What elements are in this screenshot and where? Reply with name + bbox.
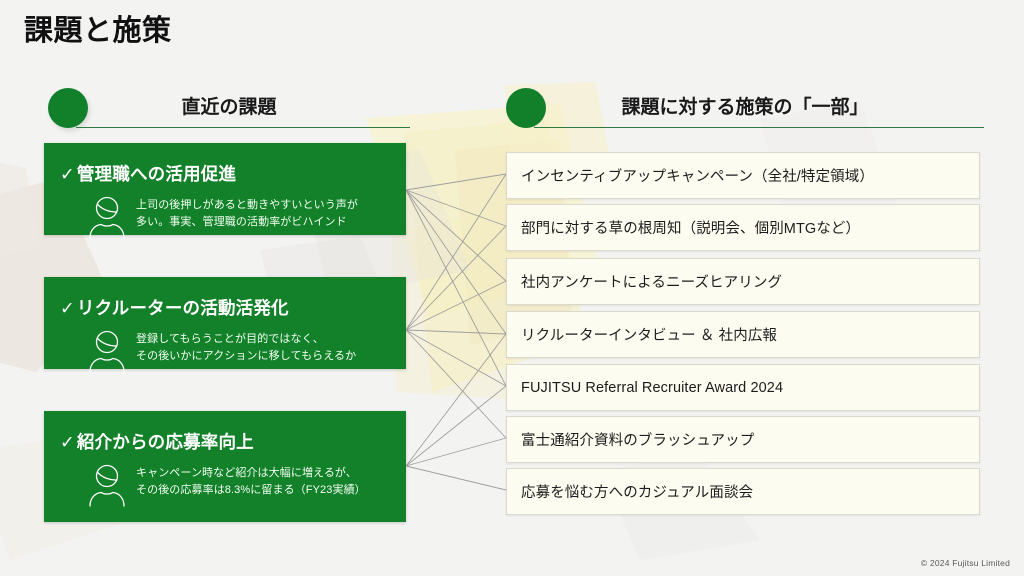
measure-label: 富士通紹介資料のブラッシュアップ <box>507 429 754 450</box>
page-title: 課題と施策 <box>24 14 172 49</box>
issue-body-line: 多い。事実、管理職の活動率がビハインド <box>136 214 394 231</box>
person-icon <box>84 329 130 373</box>
measure-label: 部門に対する草の根周知（説明会、個別MTGなど） <box>507 217 860 238</box>
measure-item[interactable]: 富士通紹介資料のブラッシュアップ <box>506 416 980 463</box>
left-column-rule <box>76 127 410 129</box>
measure-label: 応募を悩む方へのカジュアル面談会 <box>507 481 753 502</box>
measure-item[interactable]: リクルーターインタビュー ＆ 社内広報 <box>506 311 980 358</box>
issue-card[interactable]: ✓紹介からの応募率向上 キャンペーン時など紹介は大幅に増えるが、 その後の応募率… <box>44 411 406 522</box>
measure-item[interactable]: 部門に対する草の根周知（説明会、個別MTGなど） <box>506 204 980 251</box>
slide-canvas: 課題と施策 直近の課題 課題に対する施策の「一部」 ✓管理職への活用促進 上司の… <box>0 0 1024 576</box>
issue-card-body: 上司の後押しがあると動きやすいという声が 多い。事実、管理職の活動率がビハインド <box>136 197 394 231</box>
issue-body-line: その後の応募率は8.3%に留まる（FY23実績） <box>136 482 394 499</box>
check-icon: ✓ <box>60 298 75 319</box>
issue-card-body: 登録してもらうことが目的ではなく、 その後いかにアクションに移してもらえるか <box>136 331 394 365</box>
check-icon: ✓ <box>60 164 75 185</box>
issue-card-body: キャンペーン時など紹介は大幅に増えるが、 その後の応募率は8.3%に留まる（FY… <box>136 465 394 499</box>
issue-title-text: リクルーターの活動活発化 <box>77 298 289 318</box>
right-column-heading: 課題に対する施策の「一部」 <box>506 92 984 119</box>
measure-label: リクルーターインタビュー ＆ 社内広報 <box>507 324 777 345</box>
measure-label: 社内アンケートによるニーズヒアリング <box>507 271 782 292</box>
issue-body-line: その後いかにアクションに移してもらえるか <box>136 348 394 365</box>
right-column-header: 課題に対する施策の「一部」 <box>506 88 984 134</box>
issue-title-text: 紹介からの応募率向上 <box>77 432 254 452</box>
measure-item[interactable]: インセンティブアップキャンペーン（全社/特定領域） <box>506 152 980 199</box>
issue-card[interactable]: ✓管理職への活用促進 上司の後押しがあると動きやすいという声が 多い。事実、管理… <box>44 143 406 235</box>
left-column-header: 直近の課題 <box>48 88 410 134</box>
check-icon: ✓ <box>60 432 75 453</box>
issue-card-title: ✓リクルーターの活動活発化 <box>60 295 289 320</box>
left-column-heading: 直近の課題 <box>48 92 410 119</box>
copyright-footer: © 2024 Fujitsu Limited <box>921 558 1010 568</box>
person-icon <box>84 463 130 507</box>
issue-body-line: キャンペーン時など紹介は大幅に増えるが、 <box>136 465 394 482</box>
measure-label: FUJITSU Referral Recruiter Award 2024 <box>507 380 783 396</box>
measure-item[interactable]: 応募を悩む方へのカジュアル面談会 <box>506 468 980 515</box>
measure-item[interactable]: FUJITSU Referral Recruiter Award 2024 <box>506 364 980 411</box>
measure-label: インセンティブアップキャンペーン（全社/特定領域） <box>507 165 874 186</box>
issue-card[interactable]: ✓リクルーターの活動活発化 登録してもらうことが目的ではなく、 その後いかにアク… <box>44 277 406 369</box>
issue-card-title: ✓管理職への活用促進 <box>60 161 236 186</box>
person-icon <box>84 195 130 239</box>
issue-card-title: ✓紹介からの応募率向上 <box>60 429 254 454</box>
issue-title-text: 管理職への活用促進 <box>77 164 236 184</box>
measure-item[interactable]: 社内アンケートによるニーズヒアリング <box>506 258 980 305</box>
right-column-rule <box>534 127 984 129</box>
issue-body-line: 登録してもらうことが目的ではなく、 <box>136 331 394 348</box>
issue-body-line: 上司の後押しがあると動きやすいという声が <box>136 197 394 214</box>
